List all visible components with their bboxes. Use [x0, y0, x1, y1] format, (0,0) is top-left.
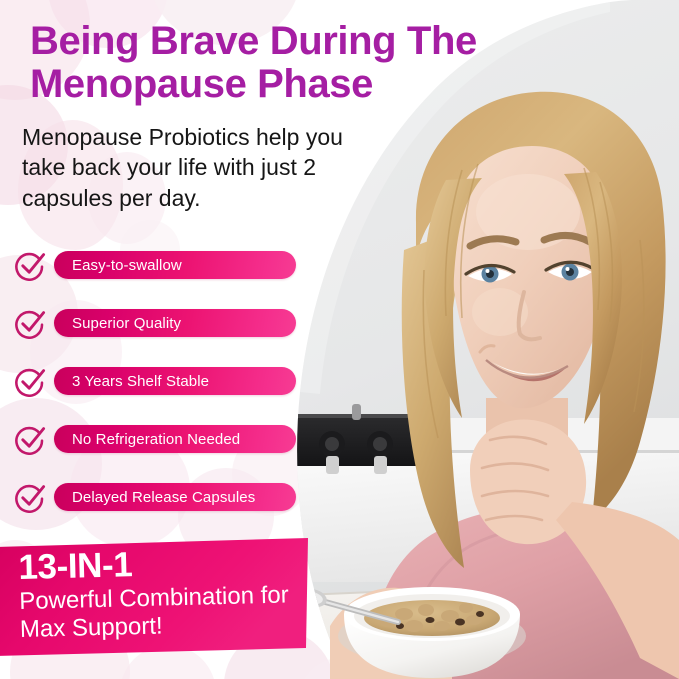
- feature-pill: Superior Quality: [54, 309, 296, 337]
- list-item: No Refrigeration Needed: [14, 422, 314, 456]
- check-circle-icon: [14, 365, 46, 397]
- list-item: Easy-to-swallow: [14, 248, 314, 282]
- check-circle-icon: [14, 481, 46, 513]
- subheadline: Menopause Probiotics help you take back …: [22, 122, 367, 213]
- feature-list: Easy-to-swallow Superior Quality 3 Years…: [14, 248, 314, 538]
- feature-label: Easy-to-swallow: [54, 257, 182, 274]
- feature-pill: Delayed Release Capsules: [54, 483, 296, 511]
- list-item: Superior Quality: [14, 306, 314, 340]
- page-title: Being Brave During The Menopause Phase: [30, 20, 550, 106]
- check-circle-icon: [14, 249, 46, 281]
- feature-label: 3 Years Shelf Stable: [54, 373, 209, 390]
- check-circle-icon: [14, 423, 46, 455]
- feature-pill: 3 Years Shelf Stable: [54, 367, 296, 395]
- advertisement-banner: Being Brave During The Menopause Phase M…: [0, 0, 679, 679]
- promo-banner-title: 13-IN-1: [18, 543, 319, 587]
- list-item: 3 Years Shelf Stable: [14, 364, 314, 398]
- feature-pill: Easy-to-swallow: [54, 251, 296, 279]
- feature-label: No Refrigeration Needed: [54, 431, 240, 448]
- promo-banner-text: 13-IN-1 Powerful Combination for Max Sup…: [18, 543, 320, 644]
- promo-banner-subtitle: Powerful Combination for Max Support!: [19, 581, 320, 644]
- feature-label: Superior Quality: [54, 315, 181, 332]
- feature-label: Delayed Release Capsules: [54, 489, 255, 506]
- feature-pill: No Refrigeration Needed: [54, 425, 296, 453]
- check-circle-icon: [14, 307, 46, 339]
- promo-banner: 13-IN-1 Powerful Combination for Max Sup…: [0, 530, 340, 675]
- list-item: Delayed Release Capsules: [14, 480, 314, 514]
